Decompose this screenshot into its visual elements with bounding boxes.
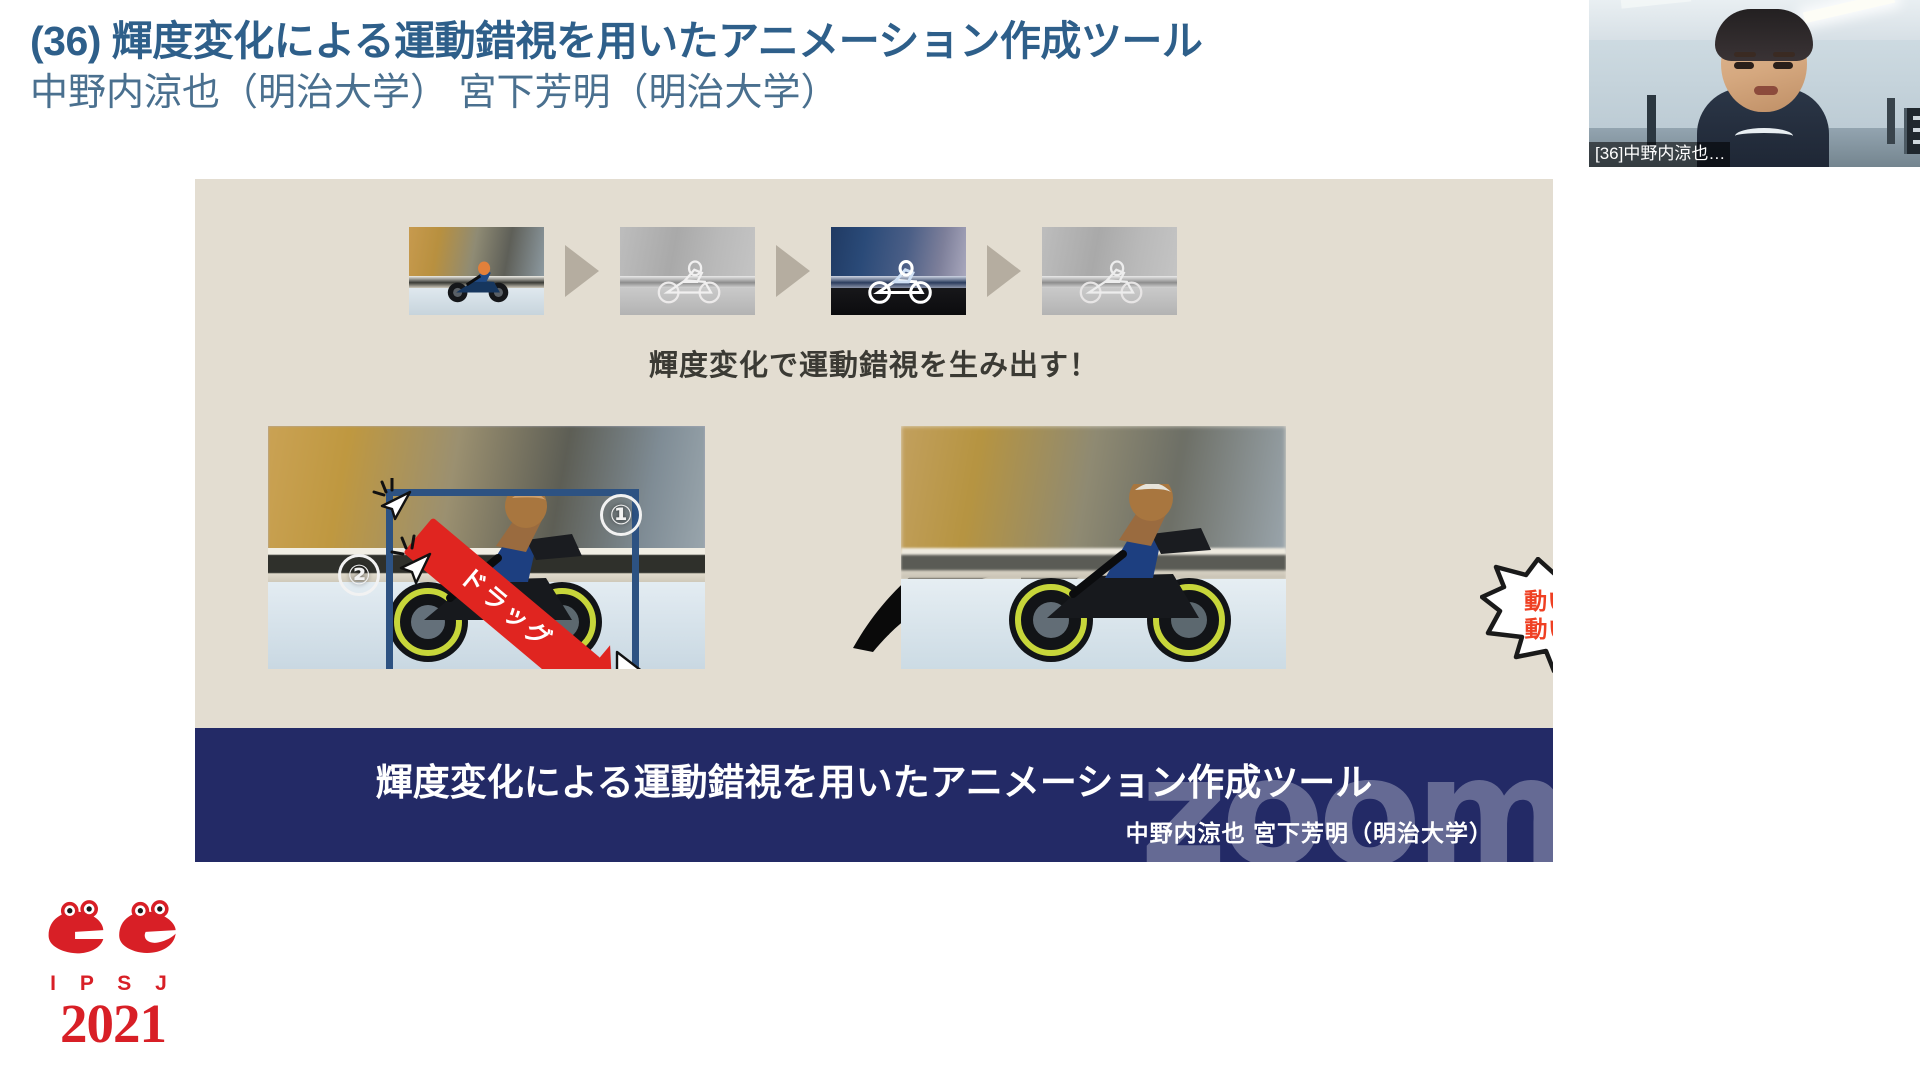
filmstrip-frame-2 [620, 227, 755, 315]
speech-bubble-text: 動いてないのに 動いて見える！ [1506, 587, 1553, 643]
click-spark-middle [390, 534, 432, 572]
result-preview-panel [901, 426, 1286, 669]
ipsj-logo: I P S J 2021 [28, 900, 198, 1055]
person-mouth [1754, 86, 1778, 95]
pipeline-arrow-1 [565, 245, 599, 297]
motorcycle-photo-right [995, 484, 1245, 669]
screen-root: (36) 輝度変化による運動錯視を用いたアニメーション作成ツール 中野内涼也（明… [0, 0, 1920, 1066]
step-marker-one: ① [600, 494, 642, 536]
person-collar [1735, 128, 1793, 144]
session-header: (36) 輝度変化による運動錯視を用いたアニメーション作成ツール 中野内涼也（明… [30, 18, 1590, 119]
page-title: (36) 輝度変化による運動錯視を用いたアニメーション作成ツール [30, 18, 1590, 65]
click-spark-top [372, 478, 412, 514]
participant-name-label: [36]中野内涼也… [1589, 142, 1730, 167]
person-hair [1715, 9, 1813, 61]
motorcycle-edge-icon [652, 259, 728, 305]
background-post-right [1887, 98, 1895, 144]
ec-mascot-icon [38, 900, 188, 962]
person-brow-right [1773, 52, 1795, 57]
filmstrip-frame-3 [831, 227, 966, 315]
webcam-tile[interactable]: [36]中野内涼也… [1589, 0, 1920, 167]
motorcycle-icon [441, 259, 517, 305]
filmstrip-frame-1 [409, 227, 544, 315]
page-authors: 中野内涼也（明治大学） 宮下芳明（明治大学） [30, 69, 1590, 118]
editor-preview-panel[interactable]: ① ② ドラッグ [268, 426, 705, 669]
person-eye-right [1773, 62, 1793, 69]
person-eye-left [1734, 62, 1754, 69]
motorcycle-highlight-icon [863, 259, 939, 305]
pipeline-filmstrip [409, 221, 1334, 321]
pipeline-arrow-2 [776, 245, 810, 297]
filmstrip-frame-4 [1042, 227, 1177, 315]
banner-title: 輝度変化による運動錯視を用いたアニメーション作成ツール [195, 752, 1553, 806]
pipeline-arrow-3 [987, 245, 1021, 297]
slide-caption-top: 輝度変化で運動錯視を生み出す！ [195, 342, 1553, 384]
speech-line-2: 動いて見える！ [1506, 615, 1553, 643]
slide-footer-banner: 輝度変化による運動錯視を用いたアニメーション作成ツール 中野内涼也 宮下芳明（明… [195, 728, 1553, 862]
speech-line-1: 動いてないのに [1506, 587, 1553, 615]
background-post [1647, 95, 1656, 145]
motorcycle-edge-icon-2 [1074, 259, 1150, 305]
person-brow-left [1734, 52, 1756, 57]
cursor-arrow-bottom [608, 646, 654, 669]
ipsj-year: 2021 [28, 992, 198, 1055]
step-marker-two: ② [338, 554, 380, 596]
background-shelf [1904, 108, 1920, 154]
banner-authors: 中野内涼也 宮下芳明（明治大学） [1126, 814, 1493, 848]
